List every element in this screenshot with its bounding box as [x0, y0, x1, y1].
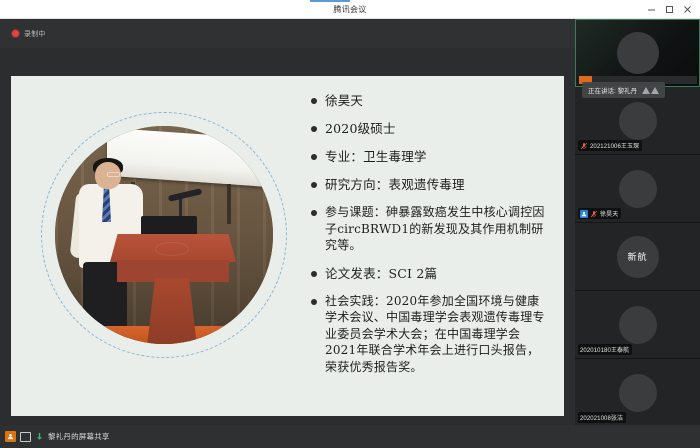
- participant-rail[interactable]: 正在讲话: 黎礼丹 202121006王玉琛: [575, 19, 700, 425]
- maximize-icon[interactable]: [660, 0, 678, 19]
- presentation-slide: 徐昊天 2020级硕士 专业：卫生毒理学 研究方向：表观遗传毒理: [11, 76, 564, 416]
- bullet-item: 社会实践：2020年参加全国环境与健康学术会议、中国毒理学会表观遗传毒理专业委员…: [311, 293, 551, 376]
- bullet-dot-icon: [311, 126, 317, 132]
- participant-tile[interactable]: 新航: [575, 223, 700, 291]
- screen-share-icon[interactable]: [20, 432, 31, 442]
- shared-screen-stage: 录制中: [0, 19, 575, 425]
- bottom-status-bar: 黎礼丹的屏幕共享: [0, 425, 700, 448]
- slide-bullet-list: 徐昊天 2020级硕士 专业：卫生毒理学 研究方向：表观遗传毒理: [311, 92, 551, 386]
- tencent-meeting-window: 腾讯会议 录制中: [0, 0, 700, 448]
- bullet-item: 2020级硕士: [311, 120, 551, 137]
- minimize-icon[interactable]: [642, 0, 660, 19]
- bullet-text: 论文发表：SCI 2篇: [325, 265, 437, 282]
- bullet-item: 专业：卫生毒理学: [311, 148, 551, 165]
- recording-indicator-icon: [12, 30, 19, 37]
- bullet-dot-icon: [311, 271, 317, 277]
- bullet-item: 参与课题：砷暴露致癌发生中核心调控因子circBRWD1的新发现及其作用机制研究…: [311, 204, 551, 254]
- bullet-item: 研究方向：表观遗传毒理: [311, 176, 551, 193]
- bullet-text: 研究方向：表观遗传毒理: [325, 176, 465, 193]
- participant-name-chip: 徐昊天: [578, 208, 621, 219]
- speaker-photo: [33, 94, 295, 376]
- audio-wave-icon: [642, 87, 659, 94]
- speaking-tooltip: 正在讲话: 黎礼丹: [582, 82, 665, 98]
- participant-name: 徐昊天: [600, 209, 618, 218]
- participant-name: 202021008张洁: [580, 413, 623, 422]
- recording-label: 录制中: [24, 29, 46, 39]
- bullet-text: 专业：卫生毒理学: [325, 148, 427, 165]
- bullet-dot-icon: [311, 210, 317, 216]
- participant-tile[interactable]: 徐昊天: [575, 155, 700, 223]
- title-bar: 腾讯会议: [0, 0, 700, 19]
- screen-share-label: 黎礼丹的屏幕共享: [48, 431, 110, 442]
- avatar: 新航: [617, 236, 659, 278]
- bullet-text: 社会实践：2020年参加全国环境与健康学术会议、中国毒理学会表观遗传毒理专业委员…: [325, 293, 551, 376]
- bullet-item: 论文发表：SCI 2篇: [311, 265, 551, 282]
- title-bar-accent: [310, 0, 350, 2]
- avatar: [619, 102, 657, 140]
- window-title: 腾讯会议: [333, 4, 366, 15]
- download-arrow-icon[interactable]: [35, 432, 44, 441]
- speaking-tooltip-text: 正在讲话: 黎礼丹: [588, 85, 637, 95]
- participant-name: 202010180王泰航: [580, 345, 629, 354]
- participant-tile[interactable]: [575, 19, 700, 87]
- window-controls: [642, 0, 696, 19]
- participant-name-chip: 202121006王玉琛: [578, 140, 642, 151]
- avatar: [617, 32, 659, 74]
- participant-name-chip: 202010180王泰航: [578, 344, 632, 355]
- participant-name-chip: 202021008张洁: [578, 412, 626, 423]
- close-icon[interactable]: [678, 0, 696, 19]
- bullet-dot-icon: [311, 154, 317, 160]
- bullet-text: 参与课题：砷暴露致癌发生中核心调控因子circBRWD1的新发现及其作用机制研究…: [325, 204, 551, 254]
- participant-tile[interactable]: 202010180王泰航: [575, 291, 700, 359]
- avatar: [619, 374, 657, 412]
- bullet-text: 2020级硕士: [325, 120, 396, 137]
- recording-bar: 录制中: [0, 19, 575, 48]
- avatar: [619, 170, 657, 208]
- host-icon: [580, 210, 588, 218]
- mic-off-icon: [590, 210, 598, 218]
- avatar-initials: 新航: [627, 250, 647, 263]
- avatar: [619, 306, 657, 344]
- bullet-dot-icon: [311, 299, 317, 305]
- bullet-item: 徐昊天: [311, 92, 551, 109]
- participant-name: 202121006王玉琛: [590, 141, 639, 150]
- host-badge-icon: [5, 431, 16, 442]
- photo-circle-image: [55, 126, 273, 344]
- bullet-text: 徐昊天: [325, 92, 363, 109]
- bullet-dot-icon: [311, 98, 317, 104]
- bullet-dot-icon: [311, 182, 317, 188]
- participant-tile[interactable]: 202021008张洁: [575, 359, 700, 425]
- mic-off-icon: [580, 142, 588, 150]
